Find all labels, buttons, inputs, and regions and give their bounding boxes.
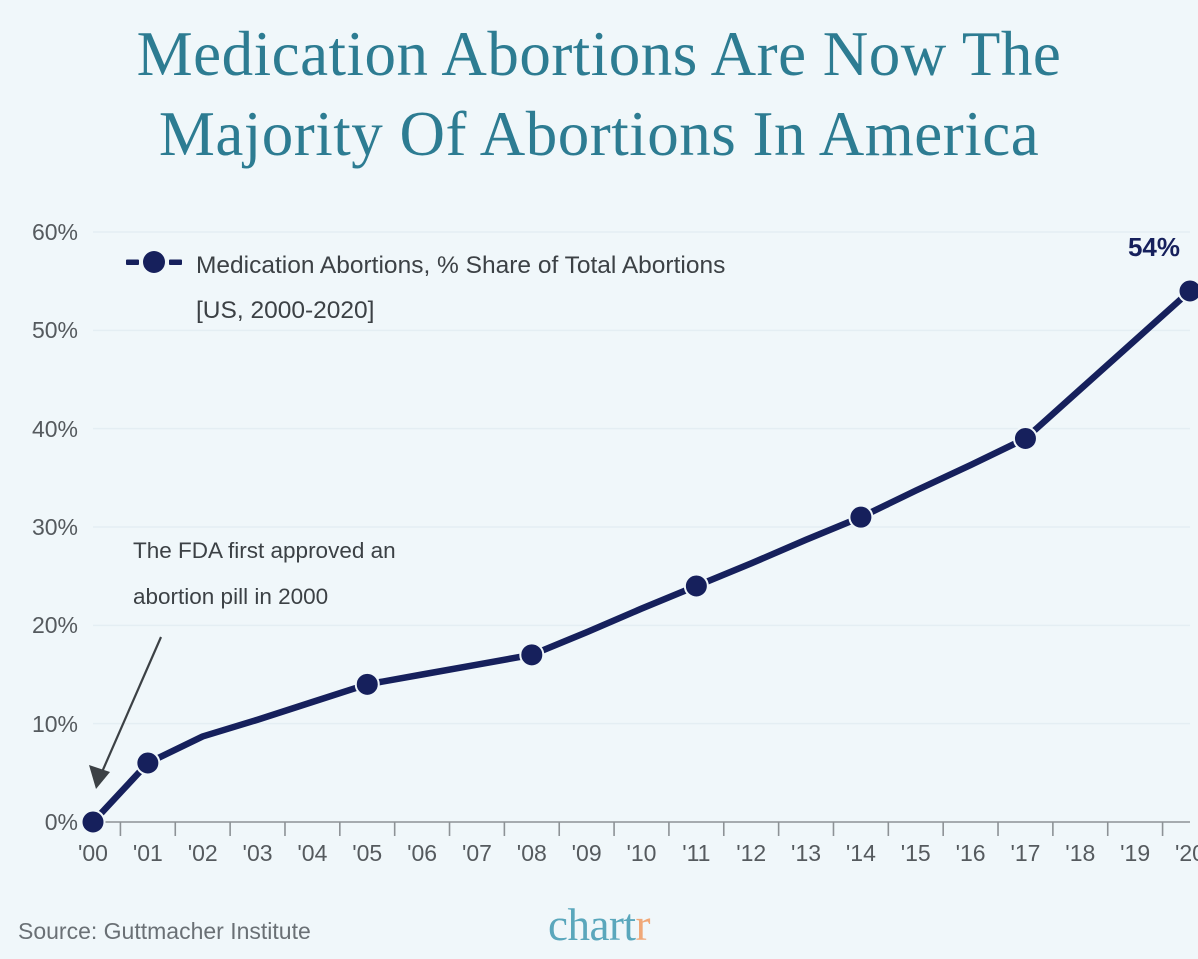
- line-chart: [0, 0, 1198, 959]
- data-point-marker: [1014, 427, 1037, 450]
- y-axis-tick-label: 30%: [0, 514, 78, 541]
- chart-legend: Medication Abortions, % Share of Total A…: [126, 243, 725, 333]
- annotation-line-1: The FDA first approved an: [133, 528, 396, 574]
- x-axis-tick-label: '20: [1165, 840, 1198, 867]
- x-axis-tick-label: '16: [946, 840, 996, 867]
- y-axis-tick-label: 0%: [0, 809, 78, 836]
- x-axis-ticks: [120, 822, 1162, 836]
- data-point-marker: [520, 643, 543, 666]
- x-axis-tick-label: '07: [452, 840, 502, 867]
- legend-label-line-1: Medication Abortions, % Share of Total A…: [196, 243, 725, 288]
- y-axis-tick-label: 20%: [0, 612, 78, 639]
- y-axis-tick-label: 10%: [0, 711, 78, 738]
- x-axis-tick-label: '13: [781, 840, 831, 867]
- data-point-marker: [136, 752, 159, 775]
- x-axis-tick-label: '12: [726, 840, 776, 867]
- y-axis-tick-label: 40%: [0, 416, 78, 443]
- x-axis-tick-label: '04: [287, 840, 337, 867]
- x-axis-tick-label: '10: [617, 840, 667, 867]
- x-axis-tick-label: '15: [891, 840, 941, 867]
- data-point-marker: [356, 673, 379, 696]
- y-axis-tick-label: 60%: [0, 219, 78, 246]
- data-point-marker: [1179, 280, 1198, 303]
- data-point-marker: [849, 506, 872, 529]
- data-point-marker: [685, 575, 708, 598]
- chartr-logo: chartr: [0, 899, 1198, 951]
- x-axis-tick-label: '02: [178, 840, 228, 867]
- x-axis-tick-label: '03: [233, 840, 283, 867]
- x-axis-tick-label: '00: [68, 840, 118, 867]
- x-axis-tick-label: '06: [397, 840, 447, 867]
- end-value-label: 54%: [1128, 232, 1180, 263]
- x-axis-tick-label: '09: [562, 840, 612, 867]
- x-axis-tick-label: '19: [1110, 840, 1160, 867]
- legend-label-line-2: [US, 2000-2020]: [196, 288, 725, 333]
- logo-text-accent: r: [635, 900, 650, 950]
- x-axis-tick-label: '11: [671, 840, 721, 867]
- y-axis-tick-label: 50%: [0, 317, 78, 344]
- x-axis-tick-label: '05: [342, 840, 392, 867]
- x-axis-tick-label: '14: [836, 840, 886, 867]
- x-axis-tick-label: '08: [507, 840, 557, 867]
- annotation-line-2: abortion pill in 2000: [133, 574, 396, 620]
- x-axis-tick-label: '18: [1055, 840, 1105, 867]
- x-axis-tick-label: '01: [123, 840, 173, 867]
- logo-text-main: chart: [548, 900, 635, 950]
- dashed-line-circle-marker-icon: [126, 249, 182, 280]
- annotation-text: The FDA first approved an abortion pill …: [133, 528, 396, 620]
- legend-label: Medication Abortions, % Share of Total A…: [196, 243, 725, 333]
- data-point-marker: [82, 811, 105, 834]
- x-axis-tick-label: '17: [1000, 840, 1050, 867]
